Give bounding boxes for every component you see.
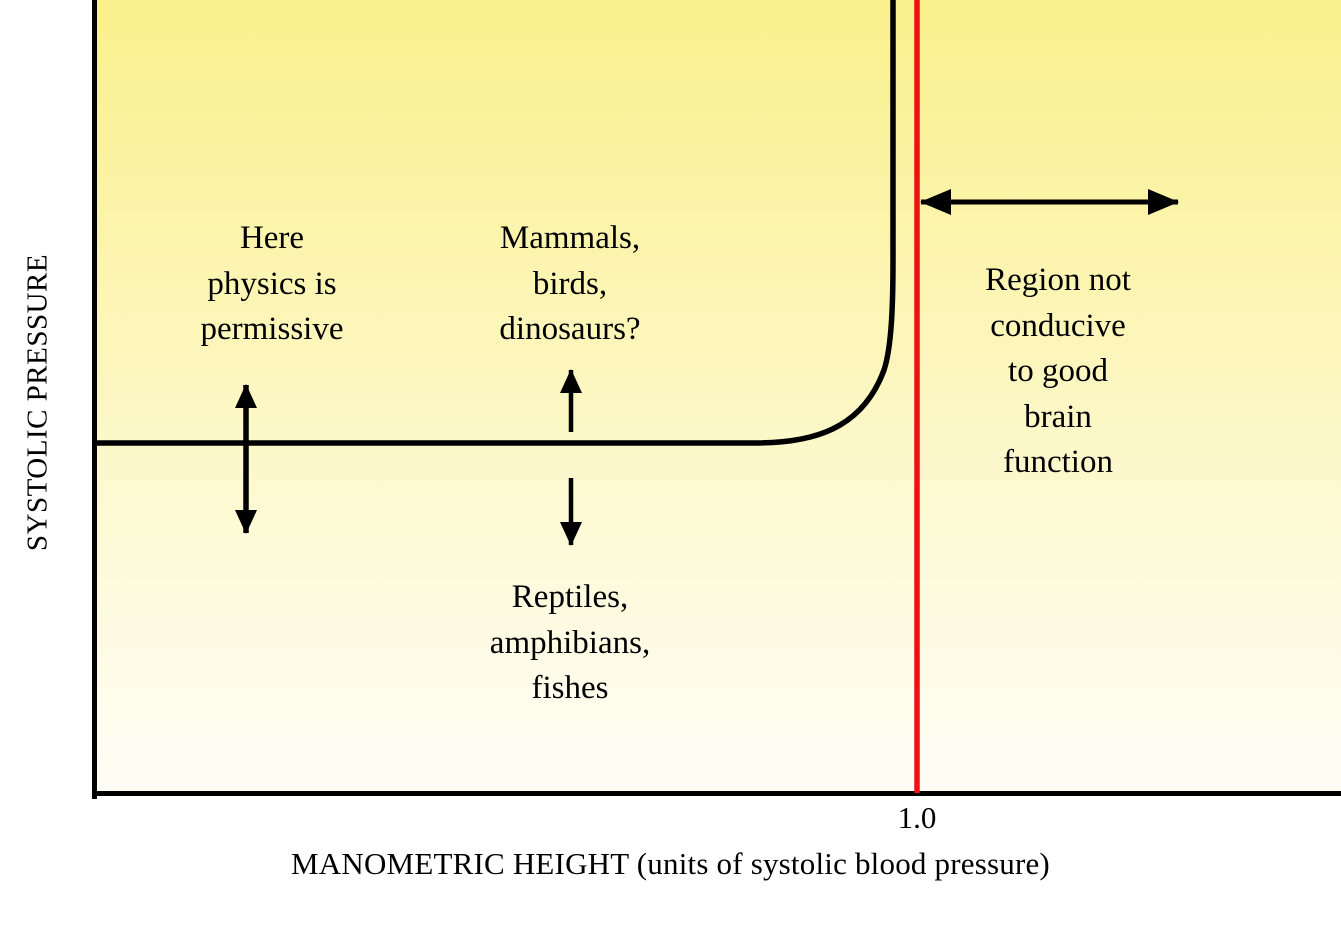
annotation-mammals: Mammals, birds, dinosaurs? <box>430 216 710 353</box>
annotation-permissive: Here physics is permissive <box>136 216 408 353</box>
y-axis-label: SYSTOLIC PRESSURE <box>22 193 55 613</box>
annotation-reptiles: Reptiles, amphibians, fishes <box>425 575 715 712</box>
x-tick-label-1: 1.0 <box>857 800 977 836</box>
chart-figure: SYSTOLIC PRESSURE MANOMETRIC HEIGHT (uni… <box>0 0 1341 931</box>
annotation-region: Region not conducive to good brain funct… <box>936 258 1180 486</box>
x-axis-spine <box>92 791 1341 796</box>
y-axis-spine <box>92 0 97 799</box>
x-axis-label: MANOMETRIC HEIGHT (units of systolic blo… <box>0 846 1341 882</box>
